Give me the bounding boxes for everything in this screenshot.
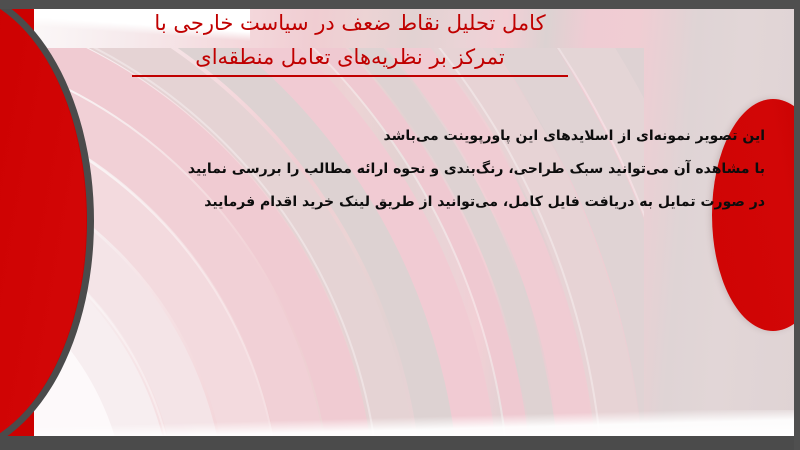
title-line-2: تمرکز بر نظریه‌های تعامل منطقه‌ای (120, 40, 580, 74)
body-line-2: با مشاهده آن می‌توانید سبک طراحی، رنگ‌بن… (125, 153, 765, 186)
body-line-1: این تصویر نمونه‌ای از اسلایدهای این پاور… (125, 120, 765, 153)
frame-top-band (0, 0, 800, 9)
slide-title: کامل تحلیل نقاط ضعف در سیاست خارجی با تم… (120, 6, 580, 77)
frame-bottom-band (0, 436, 800, 450)
slide-body-text: این تصویر نمونه‌ای از اسلایدهای این پاور… (125, 120, 765, 219)
frame-right-band (794, 0, 800, 450)
slide-canvas: کامل تحلیل نقاط ضعف در سیاست خارجی با تم… (0, 0, 800, 450)
title-line-1: کامل تحلیل نقاط ضعف در سیاست خارجی با (120, 6, 580, 40)
title-underline-rule (132, 75, 568, 77)
bottom-edge-wedge (0, 410, 794, 436)
body-line-3: در صورت تمایل به دریافت فایل کامل، می‌تو… (125, 186, 765, 219)
